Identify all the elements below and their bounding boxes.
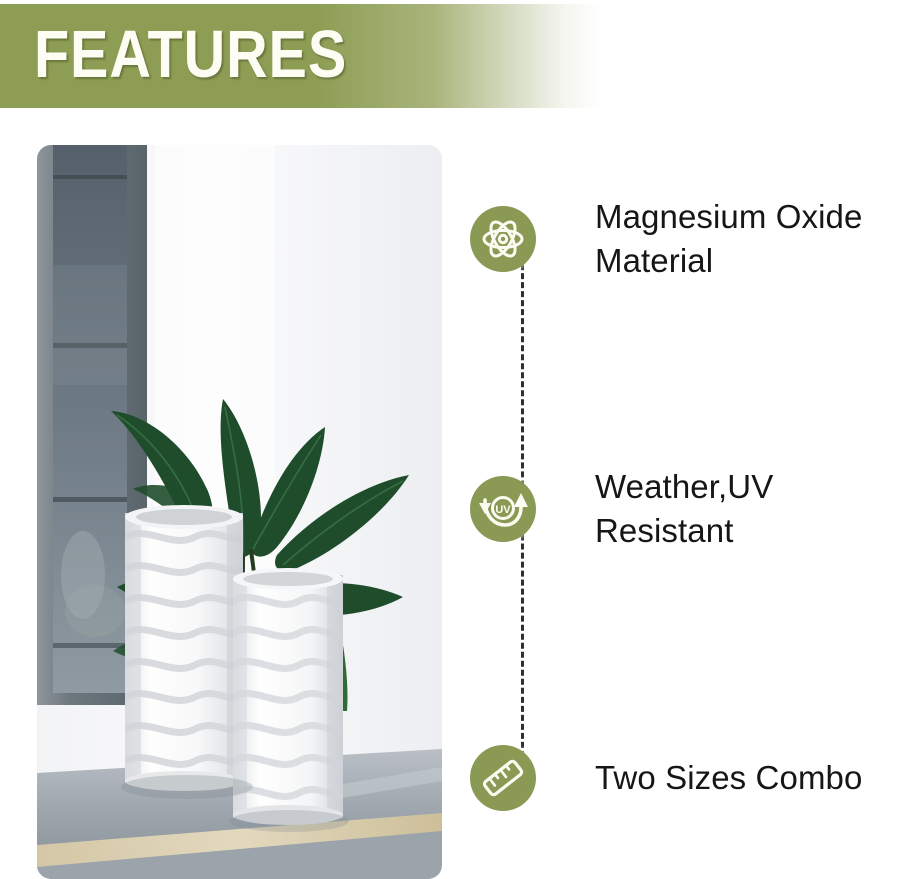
ruler-icon [470,745,536,811]
feature-label-sizes: Two Sizes Combo [595,756,862,800]
product-photo-illustration [37,145,442,879]
svg-text:UV: UV [495,504,511,516]
feature-item-material: Magnesium Oxide Material [470,195,905,283]
uv-arrow-icon: UV [470,476,536,542]
feature-item-sizes: Two Sizes Combo [470,745,905,811]
feature-list: Magnesium Oxide Material UV Weather,UV R… [470,150,905,850]
feature-infographic: FEATURES [0,0,905,879]
page-title: FEATURES [34,18,347,92]
features-banner: FEATURES [0,4,600,108]
product-photo [37,145,442,879]
atom-icon [470,206,536,272]
feature-label-weather-uv: Weather,UV Resistant [595,465,773,553]
feature-item-weather-uv: UV Weather,UV Resistant [470,465,905,553]
feature-label-material: Magnesium Oxide Material [595,195,862,283]
